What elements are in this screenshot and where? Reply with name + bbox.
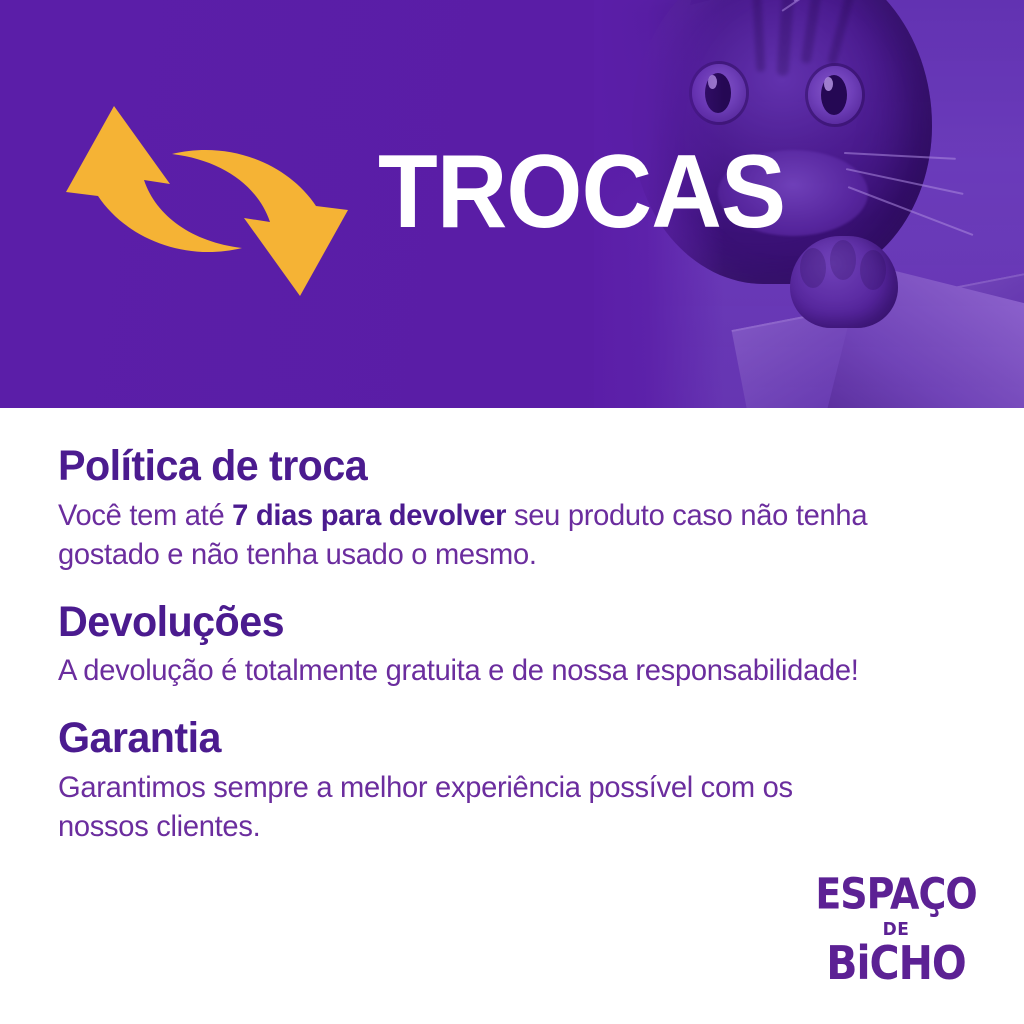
brand-logo-line-bicho: BiCHO <box>810 941 982 987</box>
section-devolucoes: Devoluções A devolução é totalmente grat… <box>58 600 966 691</box>
policy-text-before: Você tem até <box>58 499 232 532</box>
exchange-arrows-icon <box>52 96 362 306</box>
section-title-politica: Política de troca <box>58 444 930 490</box>
hero-banner: TROCAS <box>0 0 1024 408</box>
section-title-garantia: Garantia <box>58 716 930 762</box>
policy-text-highlight: 7 dias para devolver <box>232 499 506 532</box>
trocas-policy-card: TROCAS Política de troca Você tem até 7 … <box>0 0 1024 1024</box>
section-body-devolucoes: A devolução é totalmente gratuita e de n… <box>58 651 939 690</box>
section-title-devolucoes: Devoluções <box>58 600 930 646</box>
section-garantia: Garantia Garantimos sempre a melhor expe… <box>58 716 966 846</box>
section-body-politica: Você tem até 7 dias para devolver seu pr… <box>58 496 939 574</box>
section-politica-de-troca: Política de troca Você tem até 7 dias pa… <box>58 444 966 574</box>
brand-logo-line-espaco: ESPAÇO <box>810 872 982 915</box>
page-title: TROCAS <box>378 140 785 244</box>
brand-logo-espaco-de-bicho: ESPAÇO DE BiCHO <box>810 877 982 982</box>
section-body-garantia: Garantimos sempre a melhor experiência p… <box>58 768 795 846</box>
